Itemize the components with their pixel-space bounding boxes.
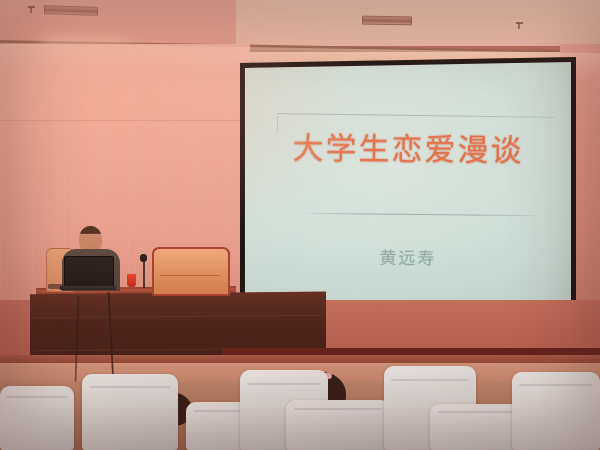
air-vent-icon	[362, 16, 412, 26]
sprinkler-head-icon	[516, 22, 523, 30]
air-vent-icon	[44, 5, 98, 16]
desk-items	[48, 284, 66, 289]
red-cup	[127, 274, 136, 287]
audience-seat	[82, 374, 178, 450]
sprinkler-head-icon	[28, 6, 35, 14]
lecture-hall-photo: 大学生恋爱漫谈 黄远寿	[0, 0, 600, 450]
wall-seam	[0, 120, 250, 121]
microphone-stand	[143, 258, 145, 288]
audience-seat	[0, 386, 74, 450]
chair-empty	[152, 247, 230, 296]
audience-seat	[512, 372, 600, 450]
screen-inner-edge	[244, 61, 573, 322]
laptop-screen	[64, 256, 114, 289]
laptop-base	[60, 286, 116, 290]
audience-seat	[286, 400, 390, 450]
microphone-head	[140, 254, 147, 262]
ceiling-far-section	[236, 0, 600, 46]
